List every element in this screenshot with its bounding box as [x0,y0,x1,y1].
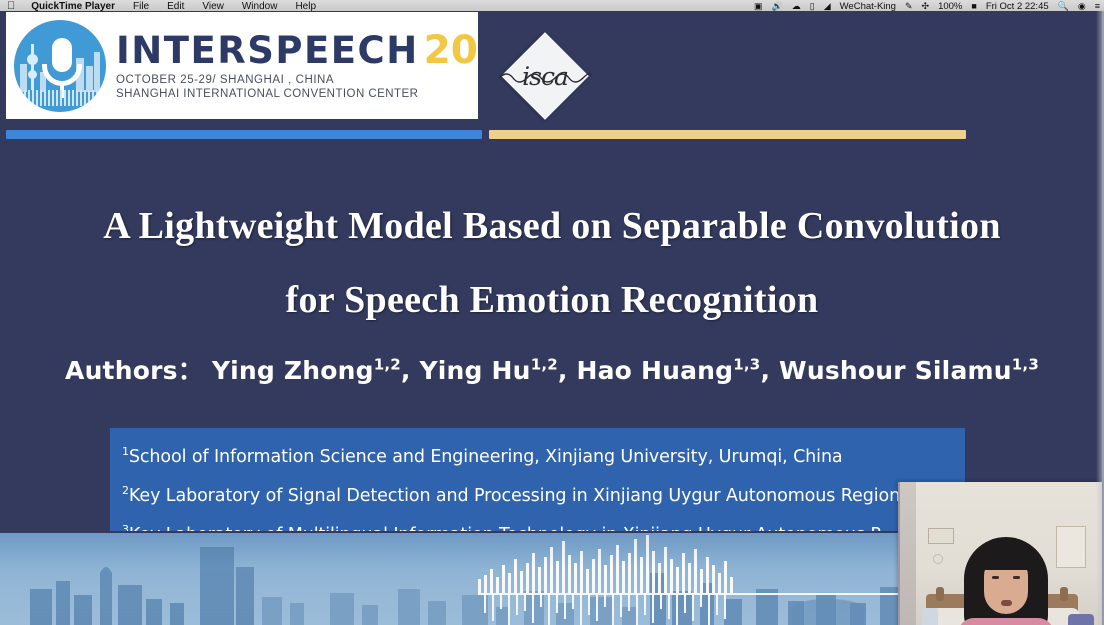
webcam-person-mouth [1001,600,1012,606]
menu-item-edit[interactable]: Edit [158,2,193,11]
webcam-wall-edge [900,482,916,625]
script-icon[interactable]: ✎ [905,2,913,11]
conference-venue: SHANGHAI INTERNATIONAL CONVENTION CENTER [116,88,478,100]
authors-names: Ying Zhong1,2, Ying Hu1,2, Hao Huang1,3,… [212,356,1039,385]
isca-logo-text: isca [487,32,603,120]
presenter-video-thumbnail[interactable] [898,482,1102,625]
isca-diamond-logo-icon: isca [487,32,603,120]
authors-line: Authors： Ying Zhong1,2, Ying Hu1,2, Hao … [0,351,1104,387]
menu-item-window[interactable]: Window [233,2,287,11]
author-1: Ying Hu1,2, [419,356,576,385]
affiliation-1: 1School of Information Science and Engin… [122,435,965,474]
interspeech-microphone-logo-icon [8,14,112,118]
author-2-sep: , [760,356,779,385]
authors-label: Authors： [65,356,203,385]
author-1-affil-ref: 1,2 [531,356,558,374]
menu-app-name[interactable]: QuickTime Player [22,2,124,11]
webcam-wall-picture-left [928,528,954,544]
cloud-icon[interactable]: ☁ [792,2,801,11]
author-0: Ying Zhong1,2, [212,356,420,385]
affiliation-1-marker: 1 [122,445,129,458]
page-title: A Lightweight Model Based on Separable C… [0,189,1104,337]
presentation-slide[interactable]: INTERSPEECH 2020 OCTOBER 25-29/ SHANGHAI… [0,11,1104,625]
battery-percent-label[interactable]: 100% [938,2,962,11]
author-2: Hao Huang1,3, [576,356,779,385]
menu-item-file[interactable]: File [124,2,158,11]
menu-bar-status-area: ▣ 🔊 ☁ ▯ ◢ WeChat-King ✎ ✣ 100% ■ Fri Oct… [754,2,1100,11]
webcam-wall-decoration [933,554,943,564]
affiliation-3-marker: 3 [122,523,129,531]
affiliation-2-marker: 2 [122,484,129,497]
author-2-affil-ref: 1,3 [733,356,760,374]
author-3-name: Wushour Silamu [779,356,1012,385]
wordmark-interspeech: INTERSPEECH [116,32,419,69]
screen-share-icon[interactable]: ▣ [754,2,763,11]
menu-item-view[interactable]: View [193,2,233,11]
wordmark: INTERSPEECH 2020 [116,31,478,70]
apple-icon[interactable]:  [4,2,22,11]
display-icon[interactable]: ▯ [810,2,815,11]
conference-wordmark-block: INTERSPEECH 2020 OCTOBER 25-29/ SHANGHAI… [112,31,478,100]
author-1-sep: , [558,356,577,385]
screen:  QuickTime Player File Edit View Window… [0,0,1104,625]
conference-dates: OCTOBER 25-29/ SHANGHAI , CHINA [116,74,478,86]
list-menu-icon[interactable]: ≡ [1095,2,1100,11]
author-2-name: Hao Huang [576,356,733,385]
conference-header-card: INTERSPEECH 2020 OCTOBER 25-29/ SHANGHAI… [6,12,478,119]
webcam-person-shirt [958,618,1054,625]
webcam-plant [922,608,938,625]
author-0-affil-ref: 1,2 [374,356,401,374]
search-icon[interactable]: 🔍 [1058,2,1069,11]
macos-menu-bar[interactable]:  QuickTime Player File Edit View Window… [0,0,1104,11]
webcam-wall-picture-right [1056,526,1086,568]
speaker-icon[interactable]: 🔊 [772,2,783,11]
author-0-name: Ying Zhong [212,356,374,385]
wifi-icon[interactable]: ◢ [824,2,831,11]
divider-bar-gold [489,130,966,139]
affiliation-2: 2Key Laboratory of Signal Detection and … [122,474,965,513]
webcam-object-right [1068,614,1094,625]
menu-bar-left:  QuickTime Player File Edit View Window… [0,2,325,11]
author-3-affil-ref: 1,3 [1012,356,1039,374]
affiliation-3-text: Key Laboratory of Multilingual Informati… [129,524,883,531]
webcam-person-fringe [980,544,1032,570]
bluetooth-icon[interactable]: ✣ [922,2,930,11]
clock-label[interactable]: Fri Oct 2 22:45 [986,2,1049,11]
menu-item-help[interactable]: Help [286,2,325,11]
author-3: Wushour Silamu1,3 [779,356,1039,385]
author-1-name: Ying Hu [419,356,530,385]
webcam-person-eye-right [1013,576,1020,579]
divider-bar-blue [6,130,482,139]
battery-full-icon[interactable]: ■ [971,2,976,11]
affiliation-3: 3Key Laboratory of Multilingual Informat… [122,513,965,531]
author-0-sep: , [401,356,420,385]
affiliation-2-text: Key Laboratory of Signal Detection and P… [129,486,900,506]
wifi-network-label[interactable]: WeChat-King [840,2,896,11]
title-line-1: A Lightweight Model Based on Separable C… [103,205,1001,247]
wordmark-year: 2020 [424,31,478,70]
title-line-2: for Speech Emotion Recognition [0,263,1104,337]
webcam-person-eye-left [992,576,999,579]
affiliations-box: 1School of Information Science and Engin… [110,428,965,531]
affiliation-1-text: School of Information Science and Engine… [129,447,843,467]
control-center-icon[interactable]: ◉ [1078,2,1086,11]
